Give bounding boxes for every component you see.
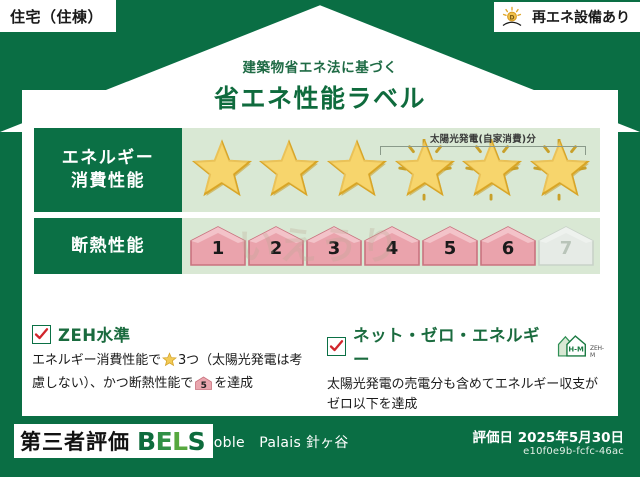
- star-icon: [191, 139, 253, 201]
- svg-text:H-M: H-M: [569, 345, 585, 353]
- insulation-grade-5: 5: [421, 225, 479, 267]
- insulation-grade-2: 2: [247, 225, 305, 267]
- insulation-grade-6: 6: [479, 225, 537, 267]
- star-3: [326, 139, 388, 201]
- building-type-badge: 住宅（住棟）: [0, 0, 116, 32]
- criterion-net-zero-energy: ネット・ゼロ・エネルギー H-M ZEH-M 太陽光発電の売電分も含めてエネルギ…: [327, 322, 608, 414]
- third-party-eval-label: 第三者評価: [20, 426, 130, 456]
- zeh-desc-part3: を達成: [214, 376, 253, 391]
- star-icon: [326, 139, 388, 201]
- renewable-equipment-badge: D 再エネ設備あり: [494, 2, 640, 32]
- checkbox-checked-icon: [32, 325, 51, 344]
- insulation-grade-number: 1: [189, 238, 247, 259]
- insulation-grade-scale: 1234567: [182, 218, 600, 274]
- label-title: 省エネ性能ラベル: [0, 79, 640, 115]
- insulation-label-text: 断熱性能: [71, 235, 145, 258]
- inline-house-grade: 5: [195, 380, 212, 394]
- bels-logo: BELS: [137, 427, 205, 456]
- energy-label-line2: 消費性能: [71, 170, 145, 193]
- footer: 第三者評価 BELS Noble Palais 針ヶ谷 評価日 2025年5月3…: [0, 416, 640, 477]
- zeh-m-house-icon: H-M: [557, 333, 588, 359]
- title-block: 建築物省エネ法に基づく 省エネ性能ラベル: [0, 56, 640, 115]
- insulation-grade-number: 6: [479, 238, 537, 259]
- criteria-section: ZEH水準 エネルギー消費性能で3つ（太陽光発電は考慮しない）、かつ断熱性能で5…: [32, 322, 608, 414]
- star-2: [258, 139, 320, 201]
- renewable-badge-label: 再エネ設備あり: [532, 7, 630, 27]
- insulation-grade-1: 1: [189, 225, 247, 267]
- evaluation-date: 評価日 2025年5月30日: [473, 426, 624, 446]
- inline-house-icon: 5: [195, 376, 212, 398]
- bels-plate: 第三者評価 BELS: [14, 424, 213, 458]
- insulation-grade-number: 3: [305, 238, 363, 259]
- svg-text:D: D: [510, 14, 515, 21]
- sun-icon: D: [501, 6, 527, 28]
- zeh-m-logo: H-M ZEH-M: [557, 333, 608, 359]
- insulation-grade-number: 4: [363, 238, 421, 259]
- checkbox-checked-icon: [327, 337, 346, 356]
- criterion-nze-header: ネット・ゼロ・エネルギー H-M ZEH-M: [327, 322, 608, 370]
- insulation-grades-panel: 1234567: [182, 218, 600, 274]
- insulation-grade-number: 5: [421, 238, 479, 259]
- solar-self-consumption-note: 太陽光発電(自家消費)分: [380, 131, 586, 155]
- star-1: [191, 139, 253, 201]
- inline-star-icon: [162, 356, 177, 371]
- insulation-label: 断熱性能: [34, 218, 182, 274]
- solar-bracket: [380, 146, 586, 155]
- star-icon: [258, 139, 320, 201]
- zeh-desc-part1: エネルギー消費性能で: [32, 353, 161, 368]
- zeh-desc-star-count: 3つ: [178, 353, 199, 368]
- energy-label-line1: エネルギー: [62, 147, 155, 170]
- energy-consumption-label: エネルギー 消費性能: [34, 128, 182, 212]
- insulation-grade-7: 7: [537, 225, 595, 267]
- criterion-zeh: ZEH水準 エネルギー消費性能で3つ（太陽光発電は考慮しない）、かつ断熱性能で5…: [32, 322, 313, 414]
- criterion-zeh-header: ZEH水準: [32, 322, 313, 346]
- criterion-zeh-title: ZEH水準: [58, 322, 131, 346]
- label-subtitle: 建築物省エネ法に基づく: [0, 56, 640, 76]
- property-name: Noble Palais 針ヶ谷: [203, 432, 349, 452]
- insulation-grade-number: 7: [537, 238, 595, 259]
- evaluation-id: e10f0e9b-fcfc-46ac: [523, 446, 624, 457]
- criterion-nze-description: 太陽光発電の売電分も含めてエネルギー収支がゼロ以下を達成: [327, 375, 608, 414]
- bels-letter-e: E: [156, 427, 173, 456]
- bels-letter-l: L: [172, 427, 187, 456]
- insulation-grade-number: 2: [247, 238, 305, 259]
- criterion-zeh-description: エネルギー消費性能で3つ（太陽光発電は考慮しない）、かつ断熱性能で5を達成: [32, 351, 313, 397]
- criterion-nze-title: ネット・ゼロ・エネルギー: [353, 322, 548, 370]
- solar-note-text: 太陽光発電(自家消費)分: [380, 131, 586, 145]
- insulation-grade-4: 4: [363, 225, 421, 267]
- insulation-grade-3: 3: [305, 225, 363, 267]
- building-type-label: 住宅（住棟）: [10, 6, 103, 27]
- bels-letter-b: B: [137, 427, 156, 456]
- zeh-m-caption: ZEH-M: [590, 345, 608, 359]
- insulation-performance-row: 断熱性能 1234567: [34, 218, 600, 274]
- energy-performance-label: 住宅（住棟） D 再エネ設備あり 建築物省エネ法に基づく 省エネ性能ラベル: [0, 0, 640, 477]
